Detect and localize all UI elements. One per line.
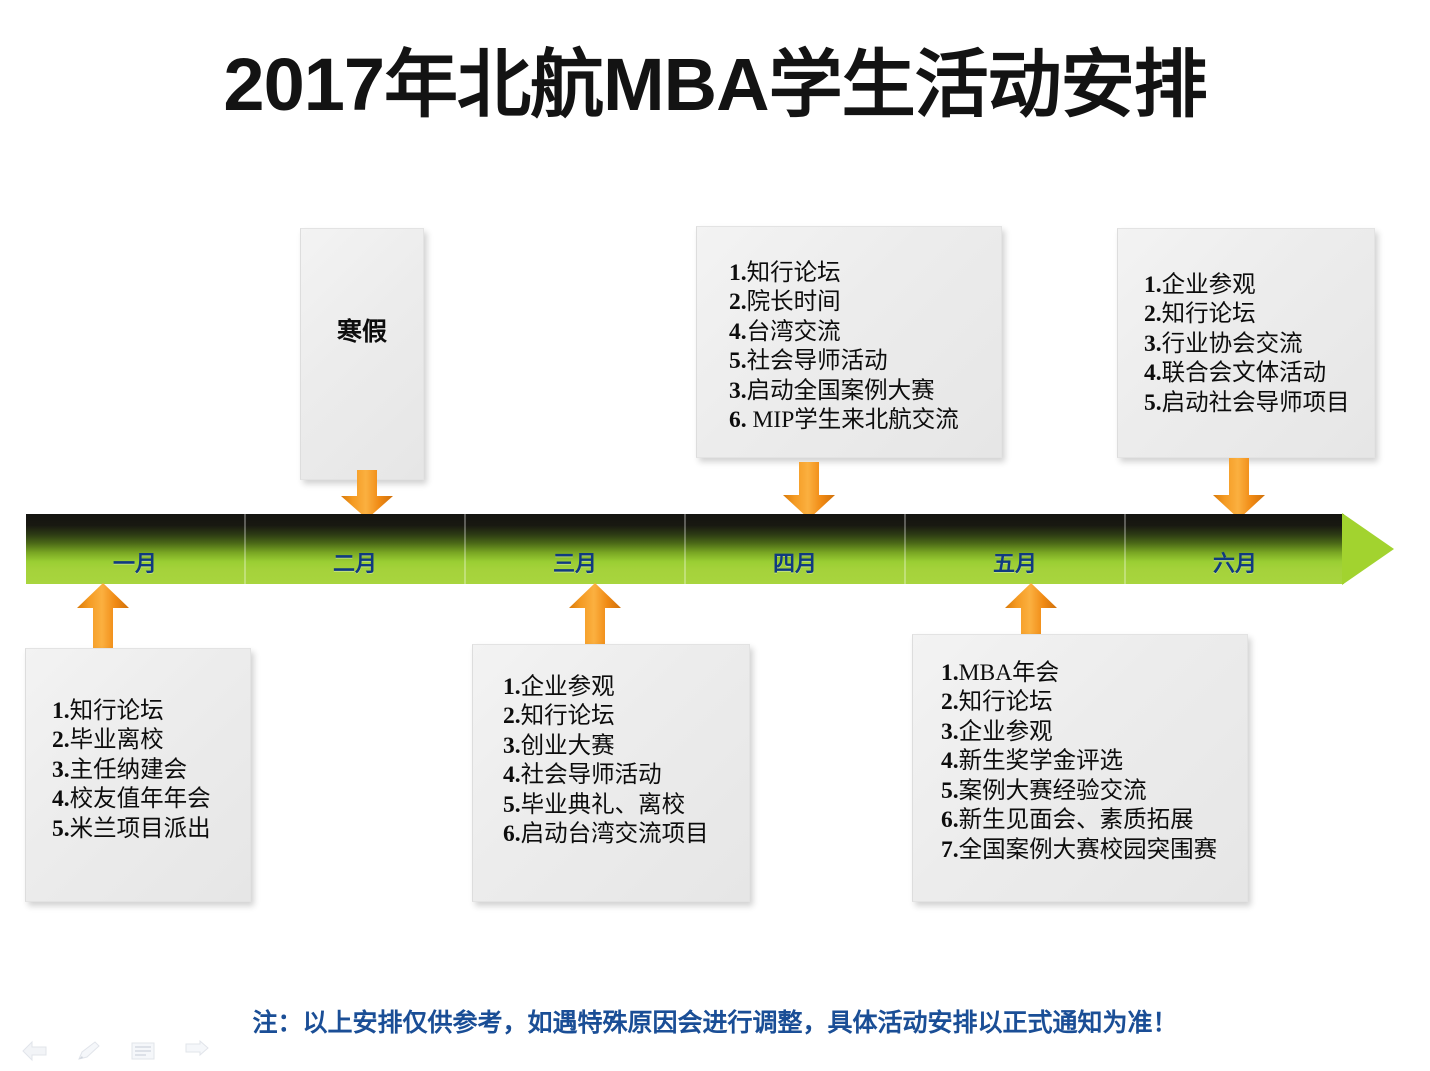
list-item-number: 2. (941, 689, 959, 715)
list-item-number: 4. (52, 786, 70, 812)
month-label: 五月 (906, 546, 1124, 578)
arrow-down-june (1208, 458, 1270, 520)
list-item-label: 米兰项目派出 (70, 816, 211, 842)
list-item-number: 5. (503, 792, 521, 818)
callout-february-text: 寒假 (301, 317, 423, 348)
list-item-label: 知行论坛 (1162, 301, 1256, 327)
list-item-number: 6. (503, 821, 521, 847)
callout-may-list: 1.MBA年会 2.知行论坛 3.企业参观 4.新生奖学金评选 5.案例大赛经验… (941, 659, 1247, 865)
list-item-label: 毕业离校 (70, 727, 164, 753)
list-item-number: 3. (52, 757, 70, 783)
pointer-icon[interactable] (184, 1040, 210, 1062)
list-item: 1.企业参观 (503, 673, 749, 702)
list-item-label: 台湾交流 (747, 319, 841, 345)
list-item-label: 启动全国案例大赛 (747, 378, 935, 404)
presenter-toolbar (22, 1040, 210, 1062)
footer-note: 注：以上安排仅供参考，如遇特殊原因会进行调整，具体活动安排以正式通知为准！ (0, 1003, 1430, 1039)
list-item-label: 校友值年年会 (70, 786, 211, 812)
arrow-up-may (1000, 582, 1062, 640)
list-item-number: 7. (941, 837, 959, 863)
list-item-label: 创业大赛 (521, 733, 615, 759)
list-item-label: 知行论坛 (959, 689, 1053, 715)
list-item-label: 企业参观 (959, 719, 1053, 745)
list-item-label: 社会导师活动 (521, 762, 662, 788)
arrow-up-march (564, 582, 626, 650)
list-item-number: 1. (503, 674, 521, 700)
list-item-number: 4. (941, 748, 959, 774)
list-item-label: 案例大赛经验交流 (959, 778, 1147, 804)
list-item: 1.企业参观 (1144, 271, 1374, 300)
list-item-label: 新生见面会、素质拓展 (959, 807, 1194, 833)
list-item: 3.行业协会交流 (1144, 330, 1374, 359)
callout-box-april[interactable]: 1.知行论坛 2.院长时间 4.台湾交流 5.社会导师活动 3.启动全国案例大赛… (696, 226, 1002, 458)
callout-box-february[interactable]: 寒假 (300, 228, 424, 480)
list-item-number: 1. (729, 260, 747, 286)
timeline-month-january[interactable]: 一月 (26, 514, 246, 584)
list-item: 5.毕业典礼、离校 (503, 791, 749, 820)
list-item-number: 4. (729, 319, 747, 345)
list-item-number: 6. (729, 407, 747, 433)
list-item: 6.启动台湾交流项目 (503, 820, 749, 849)
list-item-number: 1. (941, 660, 959, 686)
list-item: 2.知行论坛 (503, 702, 749, 731)
list-item-label: 企业参观 (521, 674, 615, 700)
callout-june-list: 1.企业参观 2.知行论坛 3.行业协会交流 4.联合会文体活动 5.启动社会导… (1144, 271, 1374, 418)
list-item: 4.校友值年年会 (52, 785, 250, 814)
timeline-month-june[interactable]: 六月 (1126, 514, 1344, 584)
month-label: 四月 (686, 546, 904, 578)
callout-april-list: 1.知行论坛 2.院长时间 4.台湾交流 5.社会导师活动 3.启动全国案例大赛… (729, 259, 1001, 436)
list-item-number: 2. (503, 703, 521, 729)
list-item-number: 2. (729, 289, 747, 315)
list-item-number: 3. (1144, 331, 1162, 357)
back-arrow-icon[interactable] (22, 1040, 48, 1062)
list-item-number: 2. (52, 727, 70, 753)
list-item: 2.院长时间 (729, 288, 1001, 317)
timeline-arrowhead (1342, 513, 1394, 585)
list-item: 1.知行论坛 (52, 697, 250, 726)
list-item: 5.社会导师活动 (729, 347, 1001, 376)
callout-box-january[interactable]: 1.知行论坛 2.毕业离校 3.主任纳建会 4.校友值年年会 5.米兰项目派出 (25, 648, 251, 902)
list-item: 3.启动全国案例大赛 (729, 377, 1001, 406)
list-item-number: 5. (1144, 390, 1162, 416)
list-item: 1.知行论坛 (729, 259, 1001, 288)
list-item-label: 行业协会交流 (1162, 331, 1303, 357)
list-item-number: 1. (1144, 272, 1162, 298)
timeline-bar: 一月 二月 三月 四月 五月 六月 (26, 514, 1346, 584)
callout-box-march[interactable]: 1.企业参观 2.知行论坛 3.创业大赛 4.社会导师活动 5.毕业典礼、离校 … (472, 644, 750, 902)
arrow-up-january (72, 582, 134, 654)
list-item: 4.台湾交流 (729, 318, 1001, 347)
list-item: 2.知行论坛 (1144, 300, 1374, 329)
list-item-number: 6. (941, 807, 959, 833)
timeline-month-february[interactable]: 二月 (246, 514, 466, 584)
list-item-label: 联合会文体活动 (1162, 360, 1327, 386)
list-item-label: 主任纳建会 (70, 757, 188, 783)
list-item-label: MIP学生来北航交流 (747, 407, 959, 433)
list-item-label: 院长时间 (747, 289, 841, 315)
arrow-down-april (778, 462, 840, 520)
month-label: 三月 (466, 546, 684, 578)
callout-march-list: 1.企业参观 2.知行论坛 3.创业大赛 4.社会导师活动 5.毕业典礼、离校 … (503, 673, 749, 850)
list-item-label: 全国案例大赛校园突围赛 (959, 837, 1218, 863)
list-item: 3.创业大赛 (503, 732, 749, 761)
list-item-number: 1. (52, 698, 70, 724)
list-item-number: 3. (729, 378, 747, 404)
list-item-label: 知行论坛 (747, 260, 841, 286)
timeline-month-march[interactable]: 三月 (466, 514, 686, 584)
list-item-number: 2. (1144, 301, 1162, 327)
callout-january-list: 1.知行论坛 2.毕业离校 3.主任纳建会 4.校友值年年会 5.米兰项目派出 (52, 697, 250, 844)
list-item-label: 新生奖学金评选 (959, 748, 1124, 774)
slide-canvas: 2017年北航MBA学生活动安排 寒假 1.知行论坛 (0, 0, 1430, 1071)
list-item: 5.启动社会导师项目 (1144, 389, 1374, 418)
list-item-number: 5. (729, 348, 747, 374)
list-item: 5.案例大赛经验交流 (941, 777, 1247, 806)
list-item-number: 4. (503, 762, 521, 788)
callout-box-june[interactable]: 1.企业参观 2.知行论坛 3.行业协会交流 4.联合会文体活动 5.启动社会导… (1117, 228, 1375, 458)
timeline-month-may[interactable]: 五月 (906, 514, 1126, 584)
list-item-label: MBA年会 (959, 660, 1060, 686)
arrow-down-february (336, 470, 398, 520)
list-item-label: 启动社会导师项目 (1162, 390, 1350, 416)
list-item: 3.主任纳建会 (52, 756, 250, 785)
callout-box-may[interactable]: 1.MBA年会 2.知行论坛 3.企业参观 4.新生奖学金评选 5.案例大赛经验… (912, 634, 1248, 902)
list-item-label: 社会导师活动 (747, 348, 888, 374)
list-item-label: 毕业典礼、离校 (521, 792, 686, 818)
list-item: 2.毕业离校 (52, 726, 250, 755)
list-item: 3.企业参观 (941, 718, 1247, 747)
month-label: 二月 (246, 546, 464, 578)
list-item: 2.知行论坛 (941, 688, 1247, 717)
list-item: 7.全国案例大赛校园突围赛 (941, 836, 1247, 865)
page-title: 2017年北航MBA学生活动安排 (0, 25, 1430, 132)
list-item-label: 企业参观 (1162, 272, 1256, 298)
list-item-label: 启动台湾交流项目 (521, 821, 709, 847)
list-item: 4.新生奖学金评选 (941, 747, 1247, 776)
lines-icon[interactable] (130, 1040, 156, 1062)
month-label: 一月 (26, 546, 244, 578)
list-item: 5.米兰项目派出 (52, 815, 250, 844)
list-item-label: 知行论坛 (521, 703, 615, 729)
list-item-number: 4. (1144, 360, 1162, 386)
list-item-number: 5. (52, 816, 70, 842)
list-item-number: 5. (941, 778, 959, 804)
list-item: 4.联合会文体活动 (1144, 359, 1374, 388)
list-item: 1.MBA年会 (941, 659, 1247, 688)
list-item: 6. MIP学生来北航交流 (729, 406, 1001, 435)
list-item: 6.新生见面会、素质拓展 (941, 806, 1247, 835)
timeline-month-april[interactable]: 四月 (686, 514, 906, 584)
pen-icon[interactable] (76, 1040, 102, 1062)
list-item-label: 知行论坛 (70, 698, 164, 724)
list-item: 4.社会导师活动 (503, 761, 749, 790)
list-item-number: 3. (503, 733, 521, 759)
list-item-number: 3. (941, 719, 959, 745)
month-label: 六月 (1126, 546, 1344, 578)
